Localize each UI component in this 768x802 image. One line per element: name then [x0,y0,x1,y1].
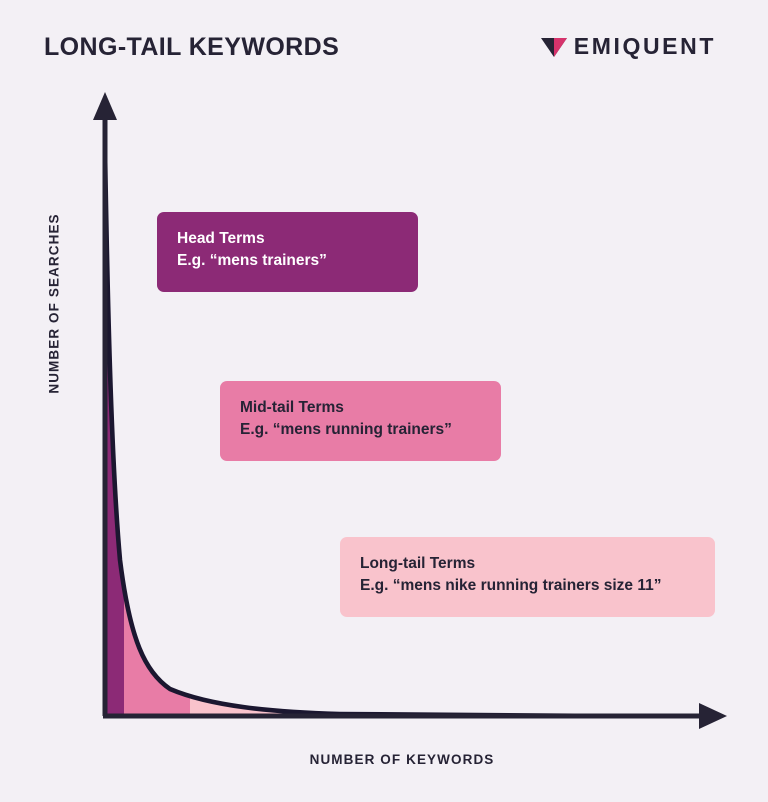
brand-logo: EMIQUENT [541,33,716,60]
callout-head-terms: Head Terms E.g. “mens trainers” [157,212,418,292]
callout-head-terms-title: Head Terms [177,228,398,250]
y-axis-arrowhead-icon [93,92,117,120]
page-title: LONG-TAIL KEYWORDS [44,33,339,62]
x-axis-label: NUMBER OF KEYWORDS [0,752,768,767]
y-axis-label: NUMBER OF SEARCHES [47,204,62,404]
x-axis-arrowhead-icon [699,703,727,729]
callout-long-tail-terms: Long-tail Terms E.g. “mens nike running … [340,537,715,617]
callout-mid-tail-terms-example: E.g. “mens running trainers” [240,419,481,441]
triangle-play-mark-icon [541,36,567,58]
callout-long-tail-terms-title: Long-tail Terms [360,553,695,575]
long-tail-keywords-infographic: LONG-TAIL KEYWORDS EMIQUENT [0,0,768,802]
callout-long-tail-terms-example: E.g. “mens nike running trainers size 11… [360,575,695,597]
callout-mid-tail-terms: Mid-tail Terms E.g. “mens running traine… [220,381,501,461]
callout-mid-tail-terms-title: Mid-tail Terms [240,397,481,419]
brand-name: EMIQUENT [574,33,716,60]
callout-head-terms-example: E.g. “mens trainers” [177,250,398,272]
